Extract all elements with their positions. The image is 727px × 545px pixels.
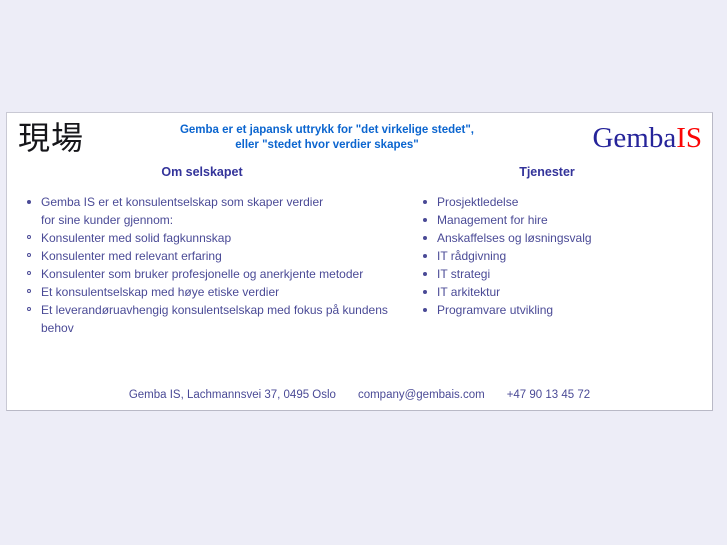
list-item: Anskaffelses og løsningsvalg	[437, 229, 707, 247]
list-item: IT rådgivning	[437, 247, 707, 265]
list-item: Et leverandøruavhengig konsulentselskap …	[41, 301, 399, 337]
heading-tjenester: Tjenester	[397, 165, 697, 179]
tagline-line-2: eller "stedet hvor verdier skapes"	[131, 138, 523, 153]
footer-email[interactable]: company@gembais.com	[358, 389, 485, 401]
list-item: Konsulenter med relevant erfaring	[41, 247, 399, 265]
about-sublist: Konsulenter med solid fagkunnskap Konsul…	[7, 229, 399, 337]
section-headings: Om selskapet Tjenester	[7, 165, 712, 189]
list-item: Management for hire	[437, 211, 707, 229]
list-item: Prosjektledelse	[437, 193, 707, 211]
page-root: 現場 Gemba er et japansk uttrykk for "det …	[0, 0, 727, 545]
brand-name: Gemba	[592, 122, 676, 154]
list-item: Konsulenter som bruker profesjonelle og …	[41, 265, 399, 283]
brand-logo: GembaIS	[592, 121, 702, 155]
tagline: Gemba er et japansk uttrykk for "det vir…	[131, 123, 523, 153]
about-column: Gemba IS er et konsulentselskap som skap…	[7, 193, 399, 337]
content-columns: Gemba IS er et konsulentselskap som skap…	[7, 189, 712, 367]
footer-contact: Gemba IS, Lachmannsvei 37, 0495 Oslocomp…	[7, 389, 712, 401]
list-item: IT strategi	[437, 265, 707, 283]
about-intro-line-2: for sine kunder gjennom:	[41, 213, 173, 227]
list-item: IT arkitektur	[437, 283, 707, 301]
about-list: Gemba IS er et konsulentselskap som skap…	[7, 193, 399, 229]
tagline-line-1: Gemba er et japansk uttrykk for "det vir…	[180, 124, 474, 136]
list-item: Programvare utvikling	[437, 301, 707, 319]
services-list: Prosjektledelse Management for hire Ansk…	[407, 193, 707, 319]
footer-address: Gemba IS, Lachmannsvei 37, 0495 Oslo	[129, 389, 336, 401]
footer-phone: +47 90 13 45 72	[507, 389, 590, 401]
content-card: 現場 Gemba er et japansk uttrykk for "det …	[6, 112, 713, 411]
list-item: Et konsulentselskap med høye etiske verd…	[41, 283, 399, 301]
brand-suffix: IS	[676, 122, 702, 154]
heading-om-selskapet: Om selskapet	[7, 165, 397, 179]
about-intro-line-1: Gemba IS er et konsulentselskap som skap…	[41, 195, 323, 209]
header: 現場 Gemba er et japansk uttrykk for "det …	[7, 113, 712, 165]
kanji-logo: 現場	[18, 118, 84, 158]
services-column: Prosjektledelse Management for hire Ansk…	[407, 193, 707, 319]
list-item: Gemba IS er et konsulentselskap som skap…	[41, 193, 399, 229]
list-item: Konsulenter med solid fagkunnskap	[41, 229, 399, 247]
